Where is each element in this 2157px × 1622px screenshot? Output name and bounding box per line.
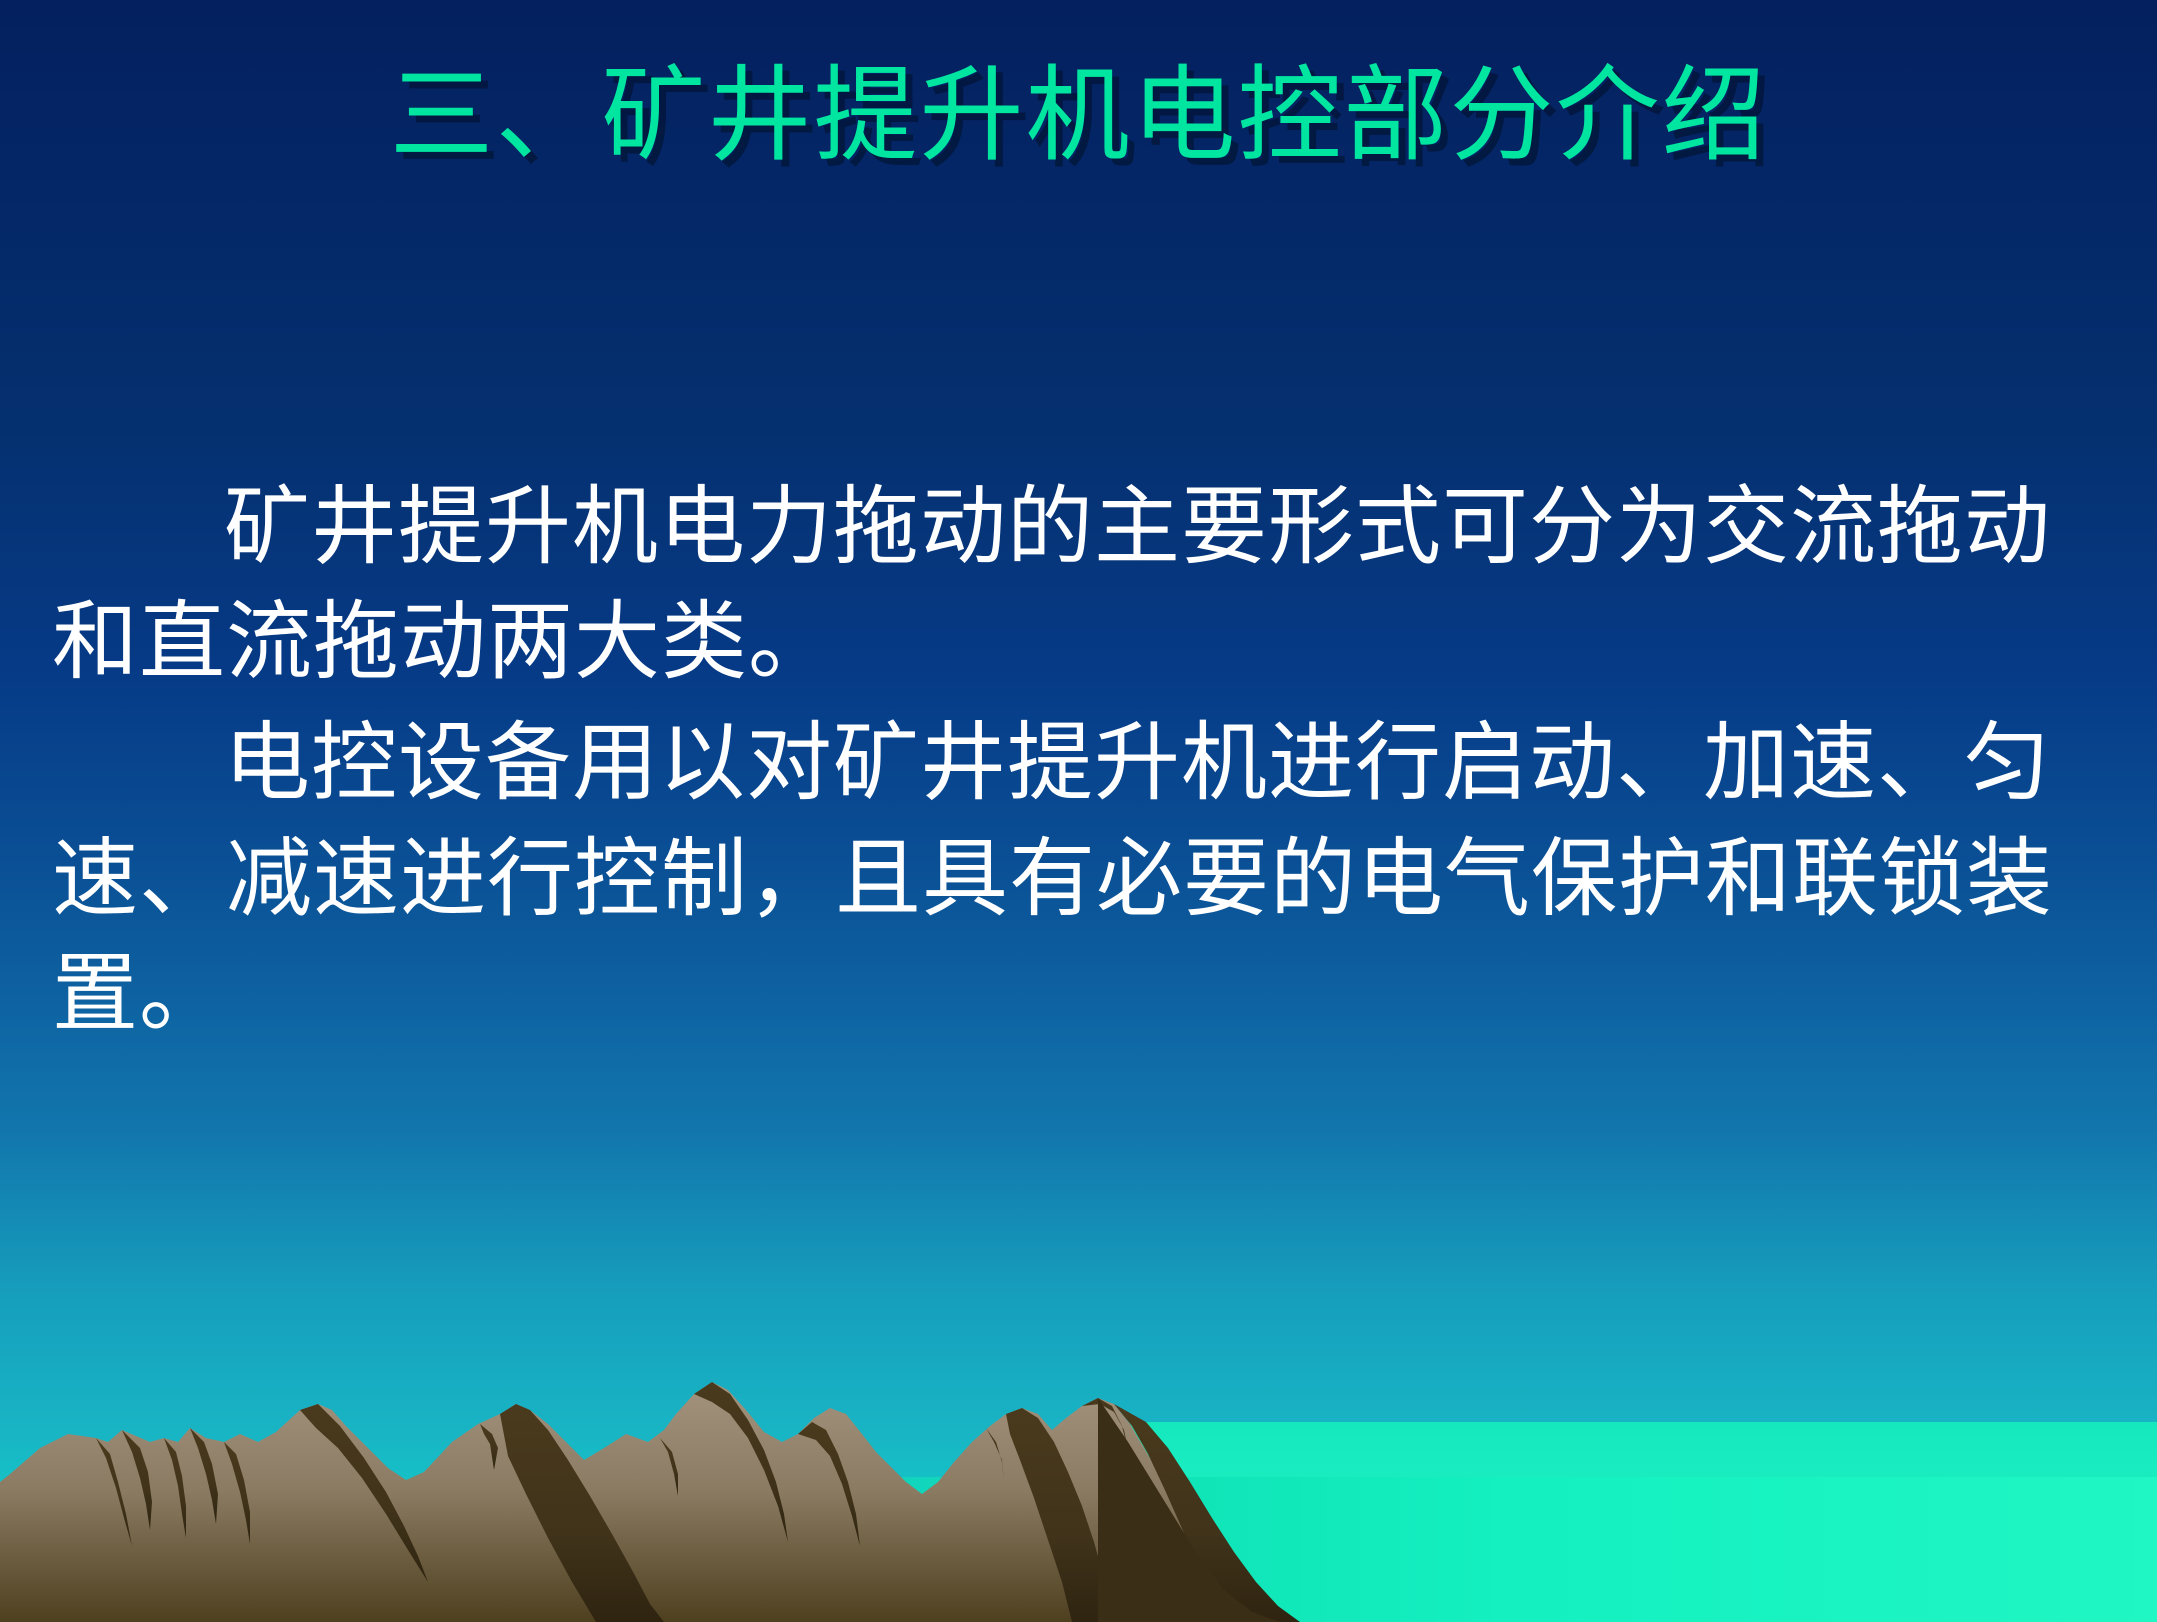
paragraph-2: 电控设备用以对矿井提升机进行启动、加速、匀速、减速进行控制，且具有必要的电气保护… [52, 706, 2072, 1052]
paragraph-1: 矿井提升机电力拖动的主要形式可分为交流拖动和直流拖动两大类。 [52, 470, 2072, 700]
mountain-range-silhouette [0, 1142, 2157, 1622]
slide-canvas: 三、矿井提升机电控部分介绍 矿井提升机电力拖动的主要形式可分为交流拖动和直流拖动… [0, 0, 2157, 1622]
page-title: 三、矿井提升机电控部分介绍 [0, 52, 2157, 182]
body-copy: 矿井提升机电力拖动的主要形式可分为交流拖动和直流拖动两大类。 电控设备用以对矿井… [52, 470, 2072, 1058]
